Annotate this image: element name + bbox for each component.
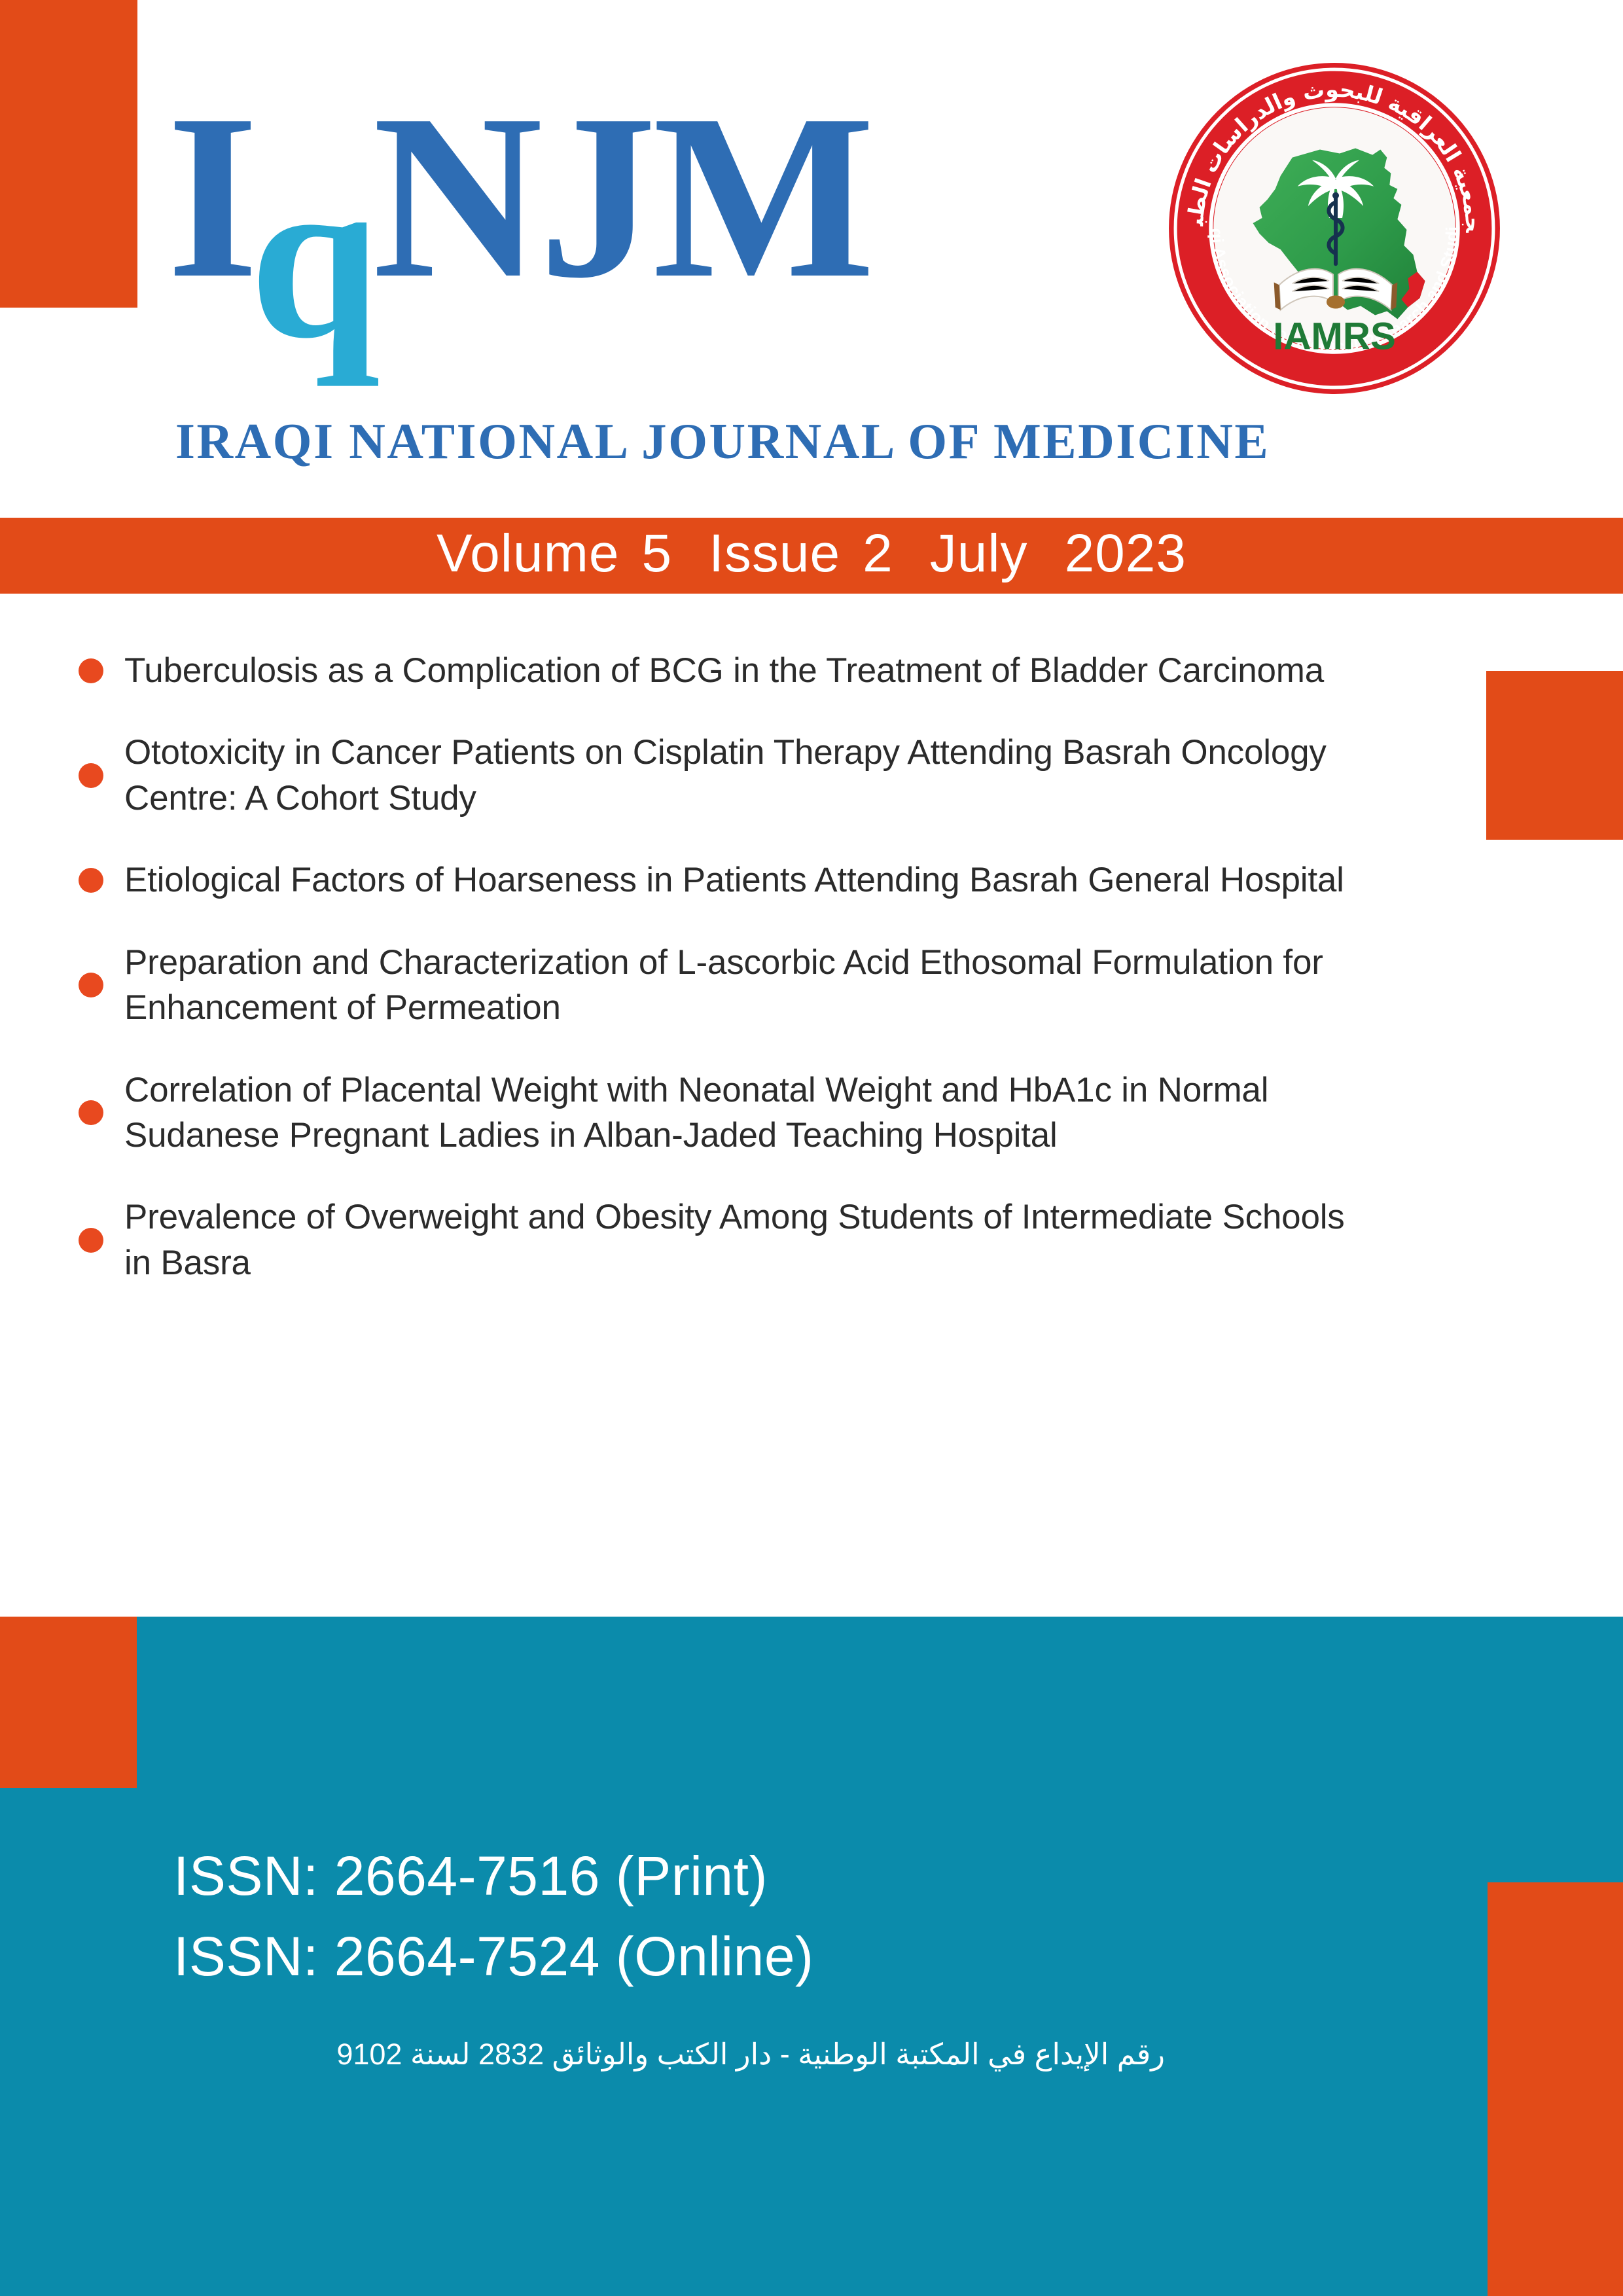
volume-issue-text: Volume5Issue2July2023 [437, 527, 1186, 581]
article-title: Tuberculosis as a Complication of BCG in… [124, 648, 1361, 693]
decorative-block-bottom-right [1488, 1882, 1623, 2296]
list-item: Prevalence of Overweight and Obesity Amo… [79, 1194, 1361, 1285]
list-item: Etiological Factors of Hoarseness in Pat… [79, 857, 1361, 903]
deposit-number: رقم الإيداع في المكتبة الوطنية - دار الك… [336, 2036, 1165, 2074]
issue-label: Issue [709, 524, 840, 583]
list-item: Ototoxicity in Cancer Patients on Cispla… [79, 730, 1361, 821]
bullet-icon [79, 658, 103, 683]
decorative-block-bottom-left [0, 1617, 137, 1788]
iamrs-logo: الجمعية العراقية للبحوث والدراسات الطبية… [1164, 58, 1505, 399]
volume-issue-banner: Volume5Issue2July2023 [0, 518, 1623, 594]
article-title: Prevalence of Overweight and Obesity Amo… [124, 1194, 1361, 1285]
wordmark-part-i: I [167, 65, 255, 327]
month-label: July [930, 524, 1028, 583]
year-label: 2023 [1065, 524, 1186, 583]
volume-number: 5 [642, 524, 673, 583]
wordmark-part-njm: NJM [372, 65, 871, 327]
article-title: Correlation of Placental Weight with Neo… [124, 1067, 1361, 1158]
bullet-icon [79, 1228, 103, 1253]
list-item: Tuberculosis as a Complication of BCG in… [79, 648, 1361, 693]
bullet-icon [79, 763, 103, 788]
article-list: Tuberculosis as a Complication of BCG in… [79, 648, 1361, 1285]
issn-print: ISSN: 2664-7516 (Print) [173, 1836, 814, 1916]
journal-subtitle: IRAQI NATIONAL JOURNAL OF MEDICINE [175, 412, 1270, 471]
issue-number: 2 [863, 524, 893, 583]
article-title: Etiological Factors of Hoarseness in Pat… [124, 857, 1361, 903]
article-title: Preparation and Characterization of L-as… [124, 940, 1361, 1031]
list-item: Preparation and Characterization of L-as… [79, 940, 1361, 1031]
bullet-icon [79, 1100, 103, 1125]
wordmark-part-q: q [249, 139, 376, 374]
masthead: IqNJM IRAQI NATIONAL JOURNAL OF MEDICINE [0, 0, 1623, 518]
decorative-block-right-upper [1486, 671, 1623, 840]
bullet-icon [79, 868, 103, 893]
journal-wordmark: IqNJM [167, 79, 871, 314]
article-title: Ototoxicity in Cancer Patients on Cispla… [124, 730, 1361, 821]
list-item: Correlation of Placental Weight with Neo… [79, 1067, 1361, 1158]
footer-panel: ISSN: 2664-7516 (Print) ISSN: 2664-7524 … [0, 1617, 1623, 2296]
journal-cover: IqNJM IRAQI NATIONAL JOURNAL OF MEDICINE [0, 0, 1623, 2296]
issn-online: ISSN: 2664-7524 (Online) [173, 1916, 814, 1997]
issn-block: ISSN: 2664-7516 (Print) ISSN: 2664-7524 … [173, 1836, 814, 1996]
emblem-acronym: IAMRS [1273, 315, 1396, 358]
bullet-icon [79, 973, 103, 997]
volume-label: Volume [437, 524, 620, 583]
